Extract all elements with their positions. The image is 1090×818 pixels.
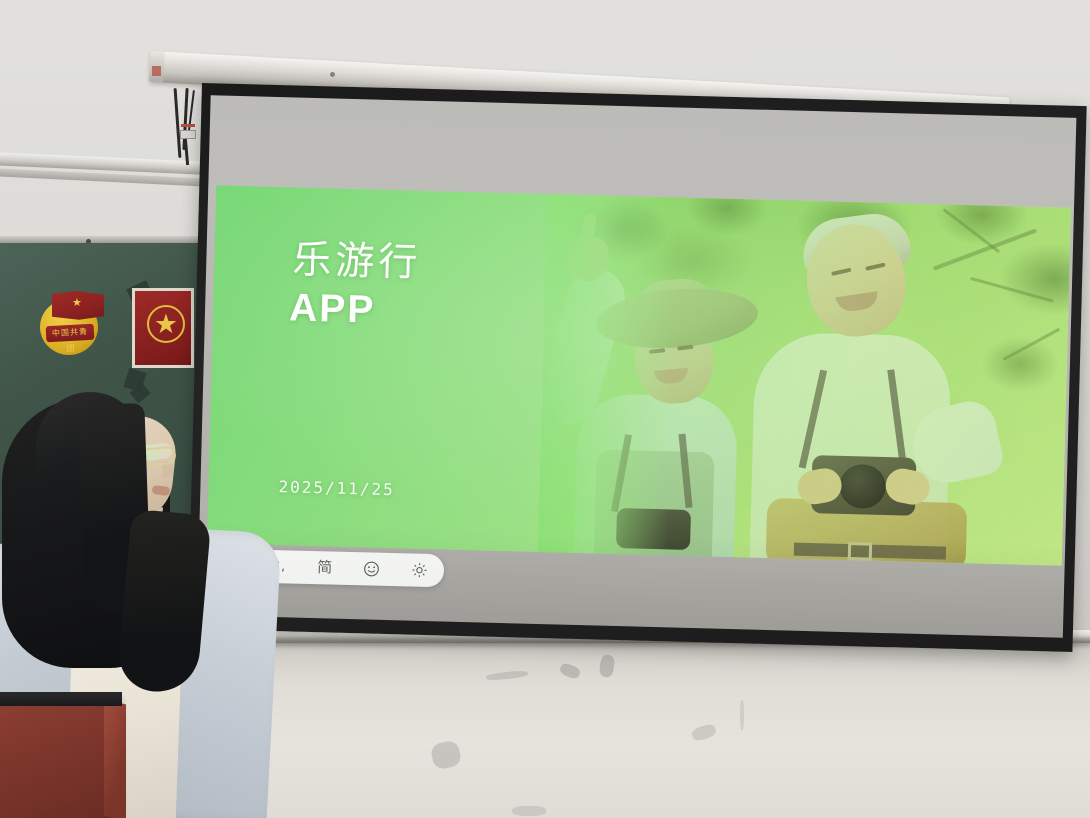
presenter-lips — [152, 485, 171, 496]
roller-screw — [330, 72, 335, 77]
badge-characters: 中国共青团 — [48, 324, 93, 342]
communist-youth-league-badge: ★ 中国共青团 — [38, 289, 104, 355]
wall-scuff — [512, 806, 546, 816]
roller-label-tab — [152, 66, 161, 76]
red-star-banner: ★ — [132, 288, 194, 368]
cable-red-wire — [181, 124, 195, 127]
belt-buckle — [848, 542, 872, 561]
presentation-slide: 乐游行 APP 2025/11/25 — [207, 185, 1071, 565]
podium — [0, 700, 120, 818]
podium-top-surface — [0, 692, 122, 706]
slide-photo — [537, 185, 1071, 565]
badge-star-icon: ★ — [72, 298, 82, 309]
slide-subtitle: APP — [289, 284, 376, 334]
cable-clip — [180, 130, 196, 139]
simplified-chinese-toggle[interactable]: 简 — [317, 551, 333, 584]
wall-scuff — [740, 700, 744, 730]
podium-side-edge — [104, 700, 126, 818]
badge-flag: ★ — [52, 291, 104, 321]
slide-title: 乐游行 — [292, 235, 422, 287]
gear-icon[interactable] — [411, 561, 428, 578]
banner-star-icon: ★ — [148, 306, 184, 342]
slide-date: 2025/11/25 — [278, 477, 395, 499]
ime-floating-toolbar[interactable]: °, 简 — [258, 550, 445, 588]
classroom-scene: ★ 中国共青团 ★ — [0, 0, 1090, 818]
emoji-icon[interactable] — [363, 560, 380, 577]
photo-edge-fade — [537, 185, 677, 565]
